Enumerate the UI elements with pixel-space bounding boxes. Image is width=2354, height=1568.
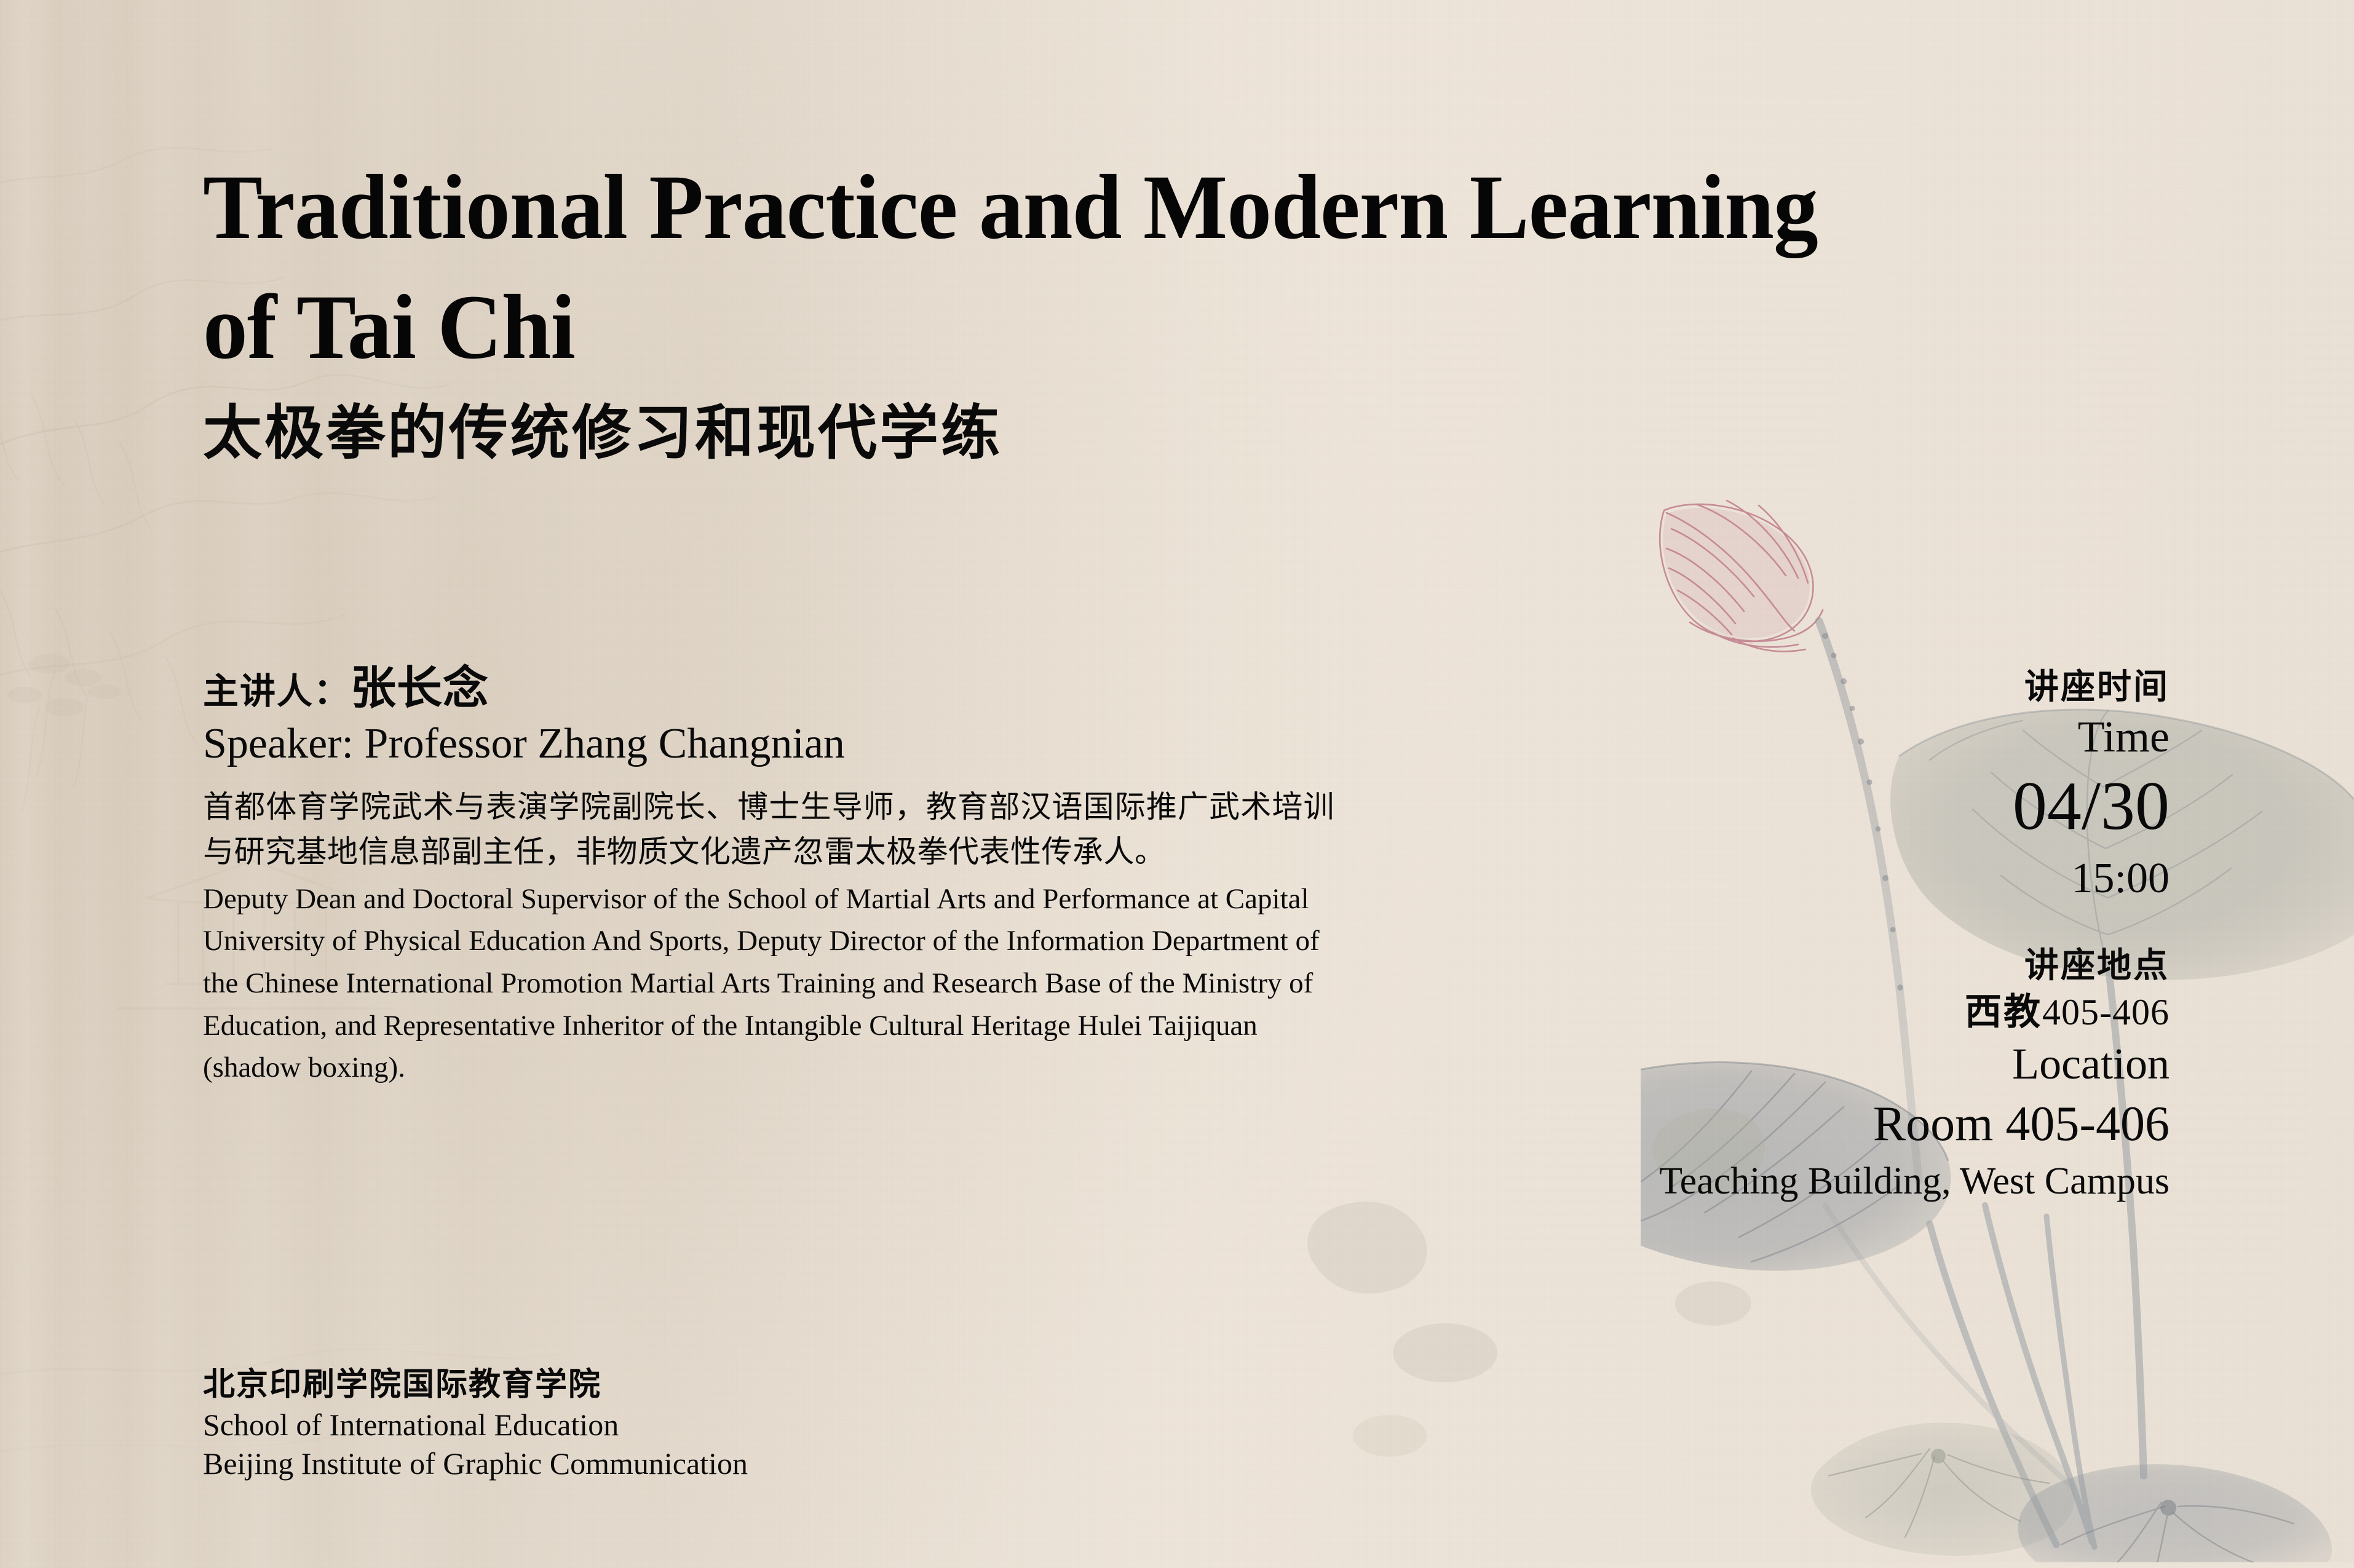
title-block: Traditional Practice and Modern Learning… [203,148,2232,468]
lotus-bud [1660,501,1824,651]
location-room-chinese: 西教405-406 [1309,990,2170,1035]
location-label-chinese: 讲座地点 [1309,946,2170,986]
speaker-block: 主讲人：张长念 Speaker: Professor Zhang Changni… [203,663,1390,1089]
location-building-english: Teaching Building, West Campus [1309,1158,2170,1205]
speaker-bio-chinese: 首都体育学院武术与表演学院副院长、博士生导师，教育部汉语国际推广武术培训与研究基… [203,785,1334,874]
event-date: 04/30 [1309,767,2170,847]
speaker-name-value: 张长念 [351,663,489,714]
organization-name-english-2: Beijing Institute of Graphic Communicati… [203,1444,1248,1483]
poster-canvas: Traditional Practice and Modern Learning… [0,0,2354,1568]
poster-title-line-2: of Tai Chi [203,267,2171,387]
time-label-chinese: 讲座时间 [1309,668,2170,708]
event-info-block: 讲座时间 Time 04/30 15:00 讲座地点 西教405-406 Loc… [1309,668,2170,1205]
location-room-chinese-number: 405-406 [2042,992,2170,1032]
speaker-bio-english: Deputy Dean and Doctoral Supervisor of t… [203,878,1347,1089]
time-label-english: Time [1309,710,2170,763]
organization-block: 北京印刷学院国际教育学院 School of International Edu… [203,1365,1248,1483]
speaker-name-english: Speaker: Professor Zhang Changnian [203,718,1390,770]
poster-subtitle-chinese: 太极拳的传统修习和现代学练 [203,398,2232,468]
info-spacer [1309,905,2170,946]
event-clock-time: 15:00 [1309,853,2170,905]
poster-title-line-1: Traditional Practice and Modern Learning [203,148,2171,267]
organization-name-chinese: 北京印刷学院国际教育学院 [203,1365,1248,1406]
location-label-english: Location [1309,1037,2170,1090]
speaker-label-chinese: 主讲人： [203,671,351,711]
location-room-chinese-prefix: 西教 [1965,992,2042,1032]
organization-name-english-1: School of International Education [203,1406,1248,1444]
speaker-name-chinese: 主讲人：张长念 [203,663,1390,716]
location-room-english: Room 405-406 [1309,1095,2170,1154]
